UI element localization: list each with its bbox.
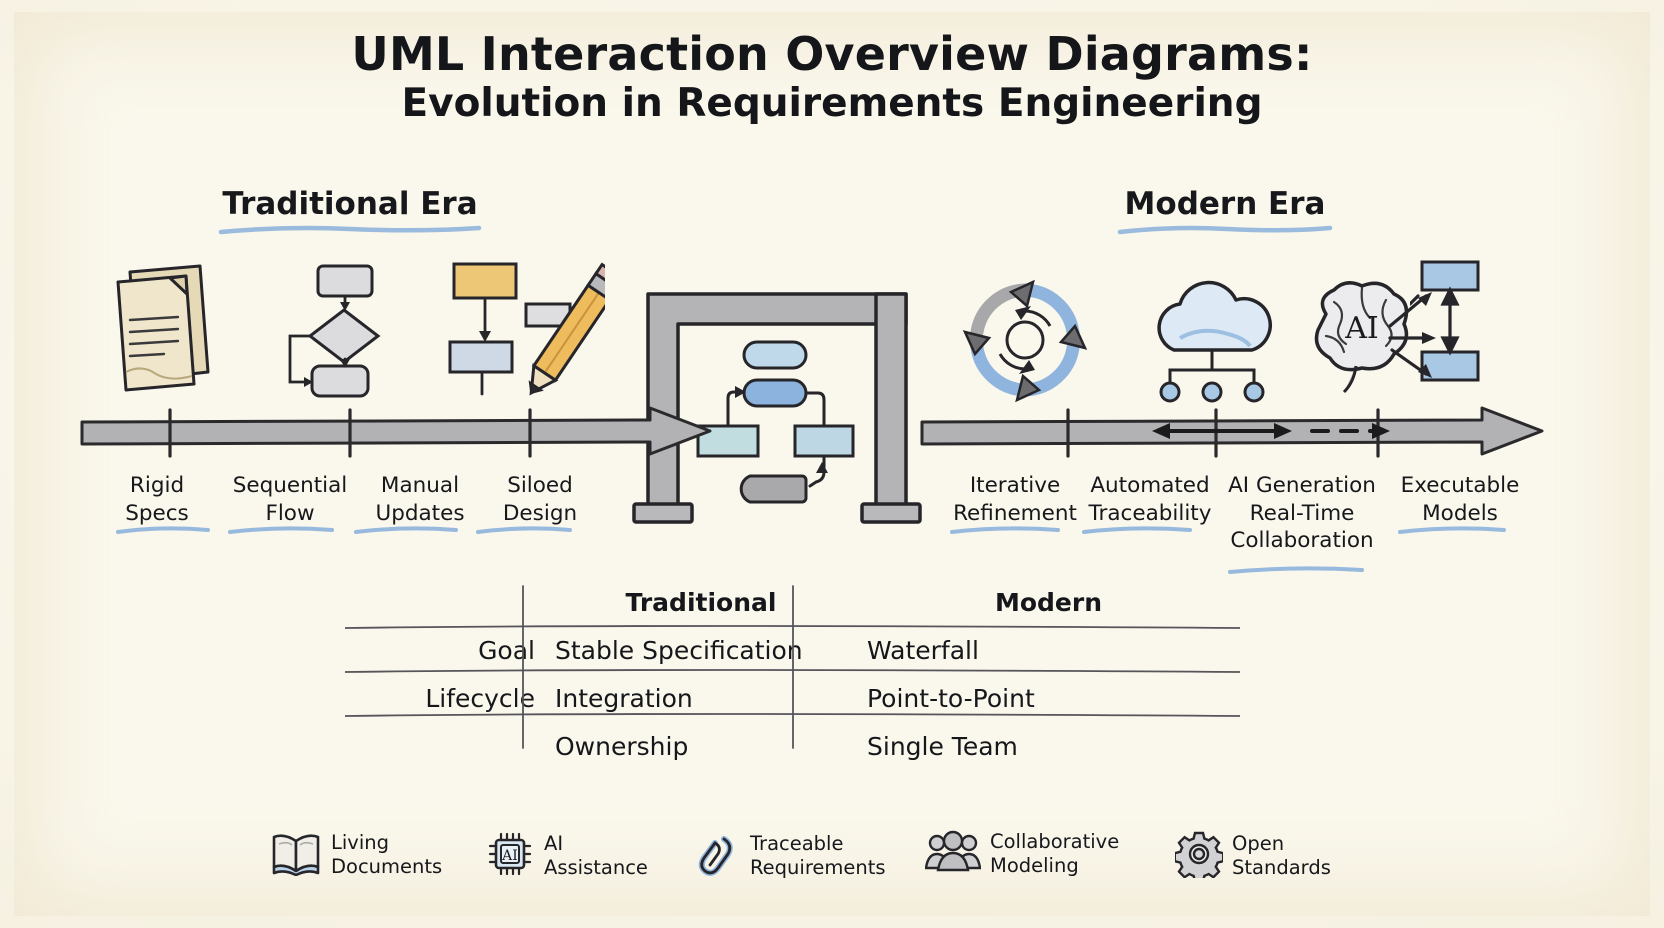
table-header-traditional: Traditional bbox=[545, 578, 857, 626]
milestone-label-siloed-design: Siloed Design bbox=[470, 472, 610, 527]
icon-cloud-network bbox=[1140, 278, 1285, 412]
table-header-row: Traditional Modern bbox=[345, 578, 1240, 626]
milestone-label-executable-models: Executable Models bbox=[1392, 472, 1528, 527]
title-line-2: Evolution in Requirements Engineering bbox=[0, 80, 1664, 129]
comparison-table: Traditional Modern Goal Stable Specifica… bbox=[345, 578, 1240, 753]
table-header-blank bbox=[345, 578, 545, 626]
paperclip-chain-icon bbox=[693, 830, 741, 882]
comparison-table-grid: Traditional Modern Goal Stable Specifica… bbox=[345, 578, 1240, 770]
title-line-1: UML Interaction Overview Diagrams: bbox=[0, 30, 1664, 80]
ai-chip-icon: AI bbox=[485, 830, 535, 882]
svg-text:AI: AI bbox=[501, 848, 518, 864]
legend-item-collaborative-modeling: Collaborative Modeling bbox=[925, 830, 1119, 878]
table-cell-key-ownership bbox=[345, 722, 545, 770]
underline-stroke-modern bbox=[1115, 224, 1335, 236]
table-cell-trad-lifecycle: Integration bbox=[545, 674, 857, 722]
legend-label-living-documents: Living Documents bbox=[331, 831, 442, 879]
rounded-node-bottom bbox=[741, 476, 806, 502]
icon-flowchart bbox=[282, 258, 402, 407]
timeline-arrow bbox=[60, 400, 1560, 470]
milestone-label-sequential-flow: Sequential Flow bbox=[210, 472, 370, 527]
milestone-label-automated-traceability: Automated Traceability bbox=[1080, 472, 1220, 527]
era-heading-traditional: Traditional Era bbox=[180, 186, 520, 236]
legend-row: Living Documents AI bbox=[270, 828, 1400, 900]
underline-stroke-traditional bbox=[215, 224, 485, 236]
timeline-left-segment bbox=[82, 408, 710, 454]
diagram-canvas: UML Interaction Overview Diagrams: Evolu… bbox=[0, 0, 1664, 928]
era-heading-modern: Modern Era bbox=[1020, 186, 1430, 236]
table-row: Ownership Single Team bbox=[345, 722, 1240, 770]
legend-item-traceable-requirements: Traceable Requirements bbox=[693, 830, 886, 882]
table-cell-trad-ownership: Ownership bbox=[545, 722, 857, 770]
legend-label-traceable-requirements: Traceable Requirements bbox=[750, 832, 886, 880]
legend-label-open-standards: Open Standards bbox=[1232, 832, 1331, 880]
table-cell-mod-lifecycle: Point-to-Point bbox=[857, 674, 1240, 722]
table-cell-mod-ownership: Single Team bbox=[857, 722, 1240, 770]
icon-aged-documents bbox=[108, 252, 228, 406]
brain-to-models-arrows bbox=[1386, 282, 1446, 392]
table-row: Lifecycle Integration Point-to-Point bbox=[345, 674, 1240, 722]
open-book-icon bbox=[270, 830, 322, 880]
milestone-label-iterative-refinement: Iterative Refinement bbox=[946, 472, 1084, 527]
era-label-modern: Modern Era bbox=[1020, 186, 1430, 222]
page-title: UML Interaction Overview Diagrams: Evolu… bbox=[0, 30, 1664, 128]
legend-label-ai-assistance: AI Assistance bbox=[544, 832, 648, 880]
icon-circular-arrows bbox=[955, 270, 1095, 414]
table-cell-key-goal: Goal bbox=[345, 626, 545, 674]
table-cell-trad-goal: Stable Specification bbox=[545, 626, 857, 674]
legend-item-ai-assistance: AI AI Assistance bbox=[485, 830, 648, 882]
gear-icon bbox=[1175, 830, 1223, 882]
table-cell-mod-goal: Waterfall bbox=[857, 626, 1240, 674]
table-row: Goal Stable Specification Waterfall bbox=[345, 626, 1240, 674]
ai-brain-label: AI bbox=[1344, 311, 1379, 346]
milestone-label-rigid-specs: Rigid Specs bbox=[92, 472, 222, 527]
legend-label-collaborative-modeling: Collaborative Modeling bbox=[990, 830, 1119, 878]
table-cell-key-lifecycle: Lifecycle bbox=[345, 674, 545, 722]
milestone-label-manual-updates: Manual Updates bbox=[350, 472, 490, 527]
era-label-traditional: Traditional Era bbox=[180, 186, 520, 222]
legend-item-open-standards: Open Standards bbox=[1175, 830, 1331, 882]
legend-item-living-documents: Living Documents bbox=[270, 830, 442, 880]
table-header-modern: Modern bbox=[857, 578, 1240, 626]
people-group-icon bbox=[925, 830, 981, 878]
rounded-node-top bbox=[744, 342, 806, 368]
milestone-underlines bbox=[100, 524, 1530, 584]
icon-manual-updates bbox=[440, 256, 605, 410]
